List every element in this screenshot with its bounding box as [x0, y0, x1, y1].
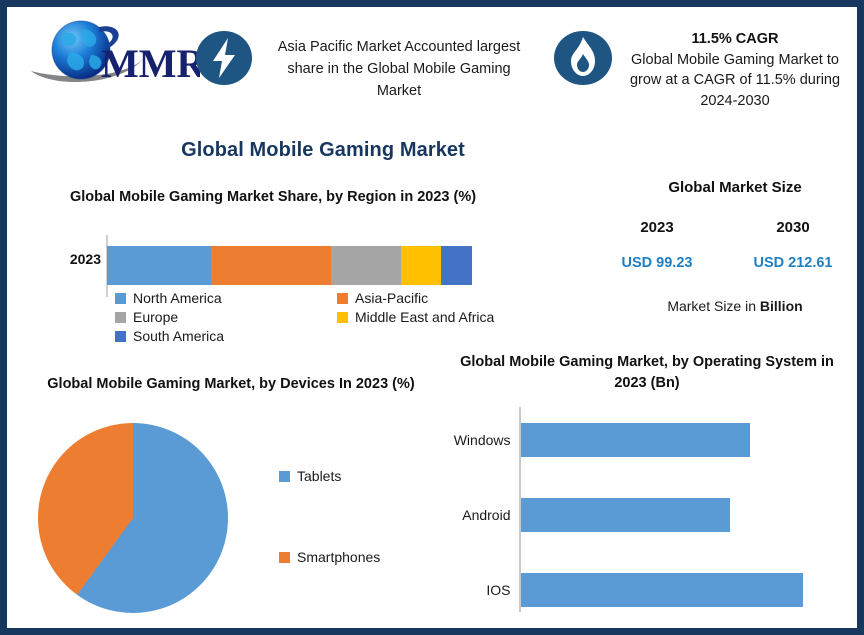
os-bar-android [521, 498, 730, 532]
legend-swatch-icon [115, 293, 126, 304]
device-pie-chart [38, 423, 228, 613]
legend-swatch-icon [115, 331, 126, 342]
os-category-label: Windows [429, 423, 511, 457]
unit-note-bold: Billion [760, 298, 803, 314]
cagr-statement: Global Mobile Gaming Market to grow at a… [619, 50, 851, 112]
legend-swatch-icon [115, 312, 126, 323]
legend-item-south-america[interactable]: South America [115, 328, 337, 344]
legend-label: Asia-Pacific [355, 290, 428, 306]
legend-label: South America [133, 328, 224, 344]
region-segment [331, 246, 400, 285]
legend-swatch-icon [337, 293, 348, 304]
cagr-headline: 11.5% CAGR [619, 29, 851, 50]
os-category-label: IOS [429, 573, 511, 607]
flame-icon [553, 29, 613, 87]
os-bar-windows [521, 423, 750, 457]
legend-item-north-america[interactable]: North America [115, 290, 337, 306]
region-segment [211, 246, 331, 285]
legend-item-tablets[interactable]: Tablets [279, 468, 341, 484]
lightning-bolt-icon [195, 29, 253, 87]
os-bar-row: Android [521, 498, 730, 532]
market-size-year-2030: 2030 [747, 219, 839, 236]
os-category-label: Android [429, 498, 511, 532]
region-category-label: 2023 [35, 251, 101, 267]
region-stacked-bar [107, 246, 472, 285]
region-chart-plot [106, 235, 472, 297]
market-size-year-2023: 2023 [611, 219, 703, 236]
legend-item-smartphones[interactable]: Smartphones [279, 549, 380, 565]
infographic-frame: MMR Asia Pacific Market Accounted larges… [0, 0, 864, 635]
region-segment [401, 246, 441, 285]
region-chart-title: Global Mobile Gaming Market Share, by Re… [67, 187, 479, 208]
device-chart-title: Global Mobile Gaming Market, by Devices … [35, 374, 427, 395]
mmr-logo: MMR [25, 13, 200, 91]
cagr-block: 11.5% CAGR Global Mobile Gaming Market t… [619, 29, 851, 111]
asia-pacific-statement: Asia Pacific Market Accounted largest sh… [265, 36, 533, 102]
region-segment [441, 246, 472, 285]
legend-swatch-icon [279, 552, 290, 563]
legend-label: Europe [133, 309, 178, 325]
legend-swatch-icon [337, 312, 348, 323]
market-size-value-2030: USD 212.61 [739, 255, 847, 271]
legend-row: North America Asia-Pacific [115, 290, 507, 306]
os-chart-title: Global Mobile Gaming Market, by Operatin… [447, 352, 847, 394]
legend-label: Tablets [297, 468, 341, 484]
market-size-title: Global Market Size [607, 179, 863, 196]
os-bar-ios [521, 573, 803, 607]
legend-item-asia-pacific[interactable]: Asia-Pacific [337, 290, 428, 306]
page-title: Global Mobile Gaming Market [7, 139, 639, 162]
legend-row: South America [115, 328, 507, 344]
unit-note-prefix: Market Size in [667, 298, 760, 314]
infographic-canvas: MMR Asia Pacific Market Accounted larges… [7, 7, 857, 628]
os-bar-row: IOS [521, 573, 803, 607]
legend-label: Middle East and Africa [355, 309, 494, 325]
legend-label: Smartphones [297, 549, 380, 565]
os-chart-plot: Windows Android IOS [519, 407, 849, 612]
market-size-value-2023: USD 99.23 [603, 255, 711, 271]
legend-row: Europe Middle East and Africa [115, 309, 507, 325]
region-legend: North America Asia-Pacific Europe Middle… [115, 290, 507, 347]
legend-item-middle-east-and-africa[interactable]: Middle East and Africa [337, 309, 494, 325]
legend-label: North America [133, 290, 222, 306]
market-size-unit-note: Market Size in Billion [607, 298, 863, 314]
os-bar-row: Windows [521, 423, 750, 457]
region-segment [107, 246, 211, 285]
legend-swatch-icon [279, 471, 290, 482]
logo-wordmark: MMR [101, 41, 200, 86]
legend-item-europe[interactable]: Europe [115, 309, 337, 325]
